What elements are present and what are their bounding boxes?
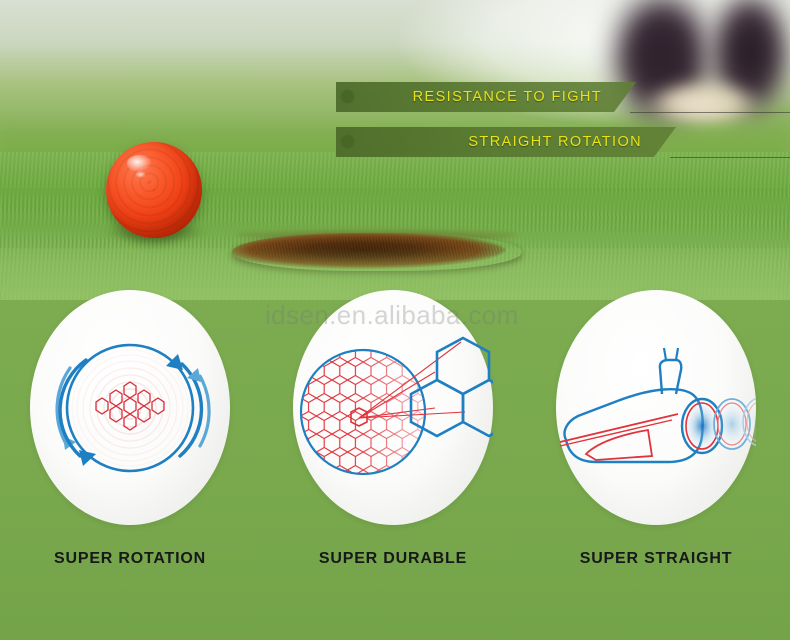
promo-image: RESISTANCE TO FIGHT STRAIGHT ROTATION bbox=[0, 0, 790, 640]
caption-super-straight: SUPER STRAIGHT bbox=[556, 550, 756, 568]
feature-super-durable bbox=[293, 290, 493, 525]
banner-resistance-to-fight: RESISTANCE TO FIGHT bbox=[336, 82, 636, 112]
ball-highlight bbox=[127, 155, 152, 171]
banner-rule-bottom bbox=[670, 157, 790, 158]
banner-rule-top bbox=[630, 112, 790, 113]
banner-straight-rotation: STRAIGHT ROTATION bbox=[336, 127, 676, 157]
hexagon-dimple-ball-icon bbox=[293, 290, 493, 525]
ball-dimples bbox=[106, 142, 202, 238]
banner-label-2: STRAIGHT ROTATION bbox=[336, 134, 676, 150]
feature-super-rotation bbox=[30, 290, 230, 525]
caption-super-rotation: SUPER ROTATION bbox=[30, 550, 230, 568]
spinning-ball-icon bbox=[30, 290, 230, 525]
feature-super-straight bbox=[556, 290, 756, 525]
banner-label-1: RESISTANCE TO FIGHT bbox=[336, 89, 636, 105]
driver-club-icon bbox=[556, 290, 756, 525]
orange-golf-ball bbox=[106, 142, 202, 238]
caption-super-durable: SUPER DURABLE bbox=[293, 550, 493, 568]
